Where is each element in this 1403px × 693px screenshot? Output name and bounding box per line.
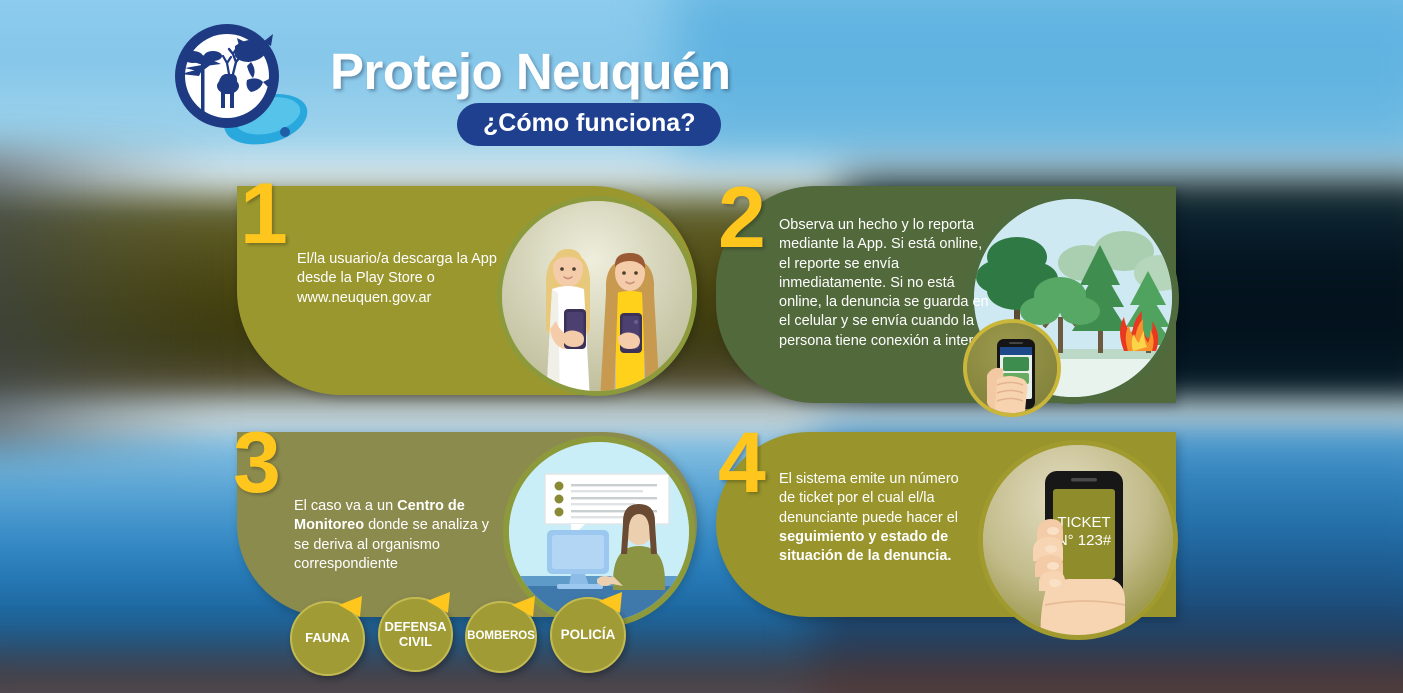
agency-label: BOMBEROS (461, 630, 541, 643)
step-3-text-pre: El caso va a un (294, 498, 397, 514)
step-2-number: 2 (718, 182, 766, 256)
agency-label-line1: DEFENSA (384, 619, 446, 634)
agency-label: DEFENSACIVIL (378, 620, 452, 650)
agency-circle-policia[interactable]: POLICÍA (550, 597, 626, 673)
step-1-number: 1 (240, 178, 288, 252)
two-people-with-phones-illustration (497, 196, 697, 396)
agency-arrow-icon (507, 593, 537, 623)
subtitle-pill: ¿Cómo funciona? (457, 103, 721, 146)
hand-holding-phone-ticket-illustration: TICKET N° 123# (978, 440, 1178, 640)
protejo-neuquen-emblem-icon (163, 16, 318, 148)
agency-arrow-icon (334, 593, 364, 623)
agency-arrow-icon (594, 589, 624, 619)
agency-circle-bomberos[interactable]: BOMBEROS (465, 601, 537, 673)
step-4-number: 4 (718, 427, 766, 501)
step-1-text: El/la usuario/a descarga la App desde la… (297, 250, 497, 308)
background-left-vignette (0, 150, 220, 450)
page-title: Protejo Neuquén (330, 42, 731, 101)
step-3-text: El caso va a un Centro de Monitoreo dond… (294, 497, 506, 574)
step-4-text-bold: seguimiento y estado de situación de la … (779, 529, 951, 564)
background-bottom-warm (0, 643, 1403, 693)
phone-ticket-line2: N° 123# (1057, 532, 1112, 549)
step-4-text-pre: El sistema emite un número de ticket por… (779, 471, 959, 526)
agency-circle-defensa-civil[interactable]: DEFENSACIVIL (378, 597, 453, 672)
agency-label: FAUNA (299, 631, 356, 646)
agency-circle-fauna[interactable]: FAUNA (290, 601, 365, 676)
step-4-text: El sistema emite un número de ticket por… (779, 470, 969, 566)
header: Protejo Neuquén ¿Cómo funciona? (0, 0, 1403, 160)
step-2-text: Observa un hecho y lo reporta mediante l… (779, 216, 994, 351)
hand-holding-phone-app-illustration (963, 319, 1061, 417)
agency-label-line2: CIVIL (399, 634, 432, 649)
agency-arrow-icon (422, 589, 452, 619)
phone-ticket-line1: TICKET (1057, 514, 1110, 531)
agency-label: POLICÍA (555, 627, 622, 643)
step-3-number: 3 (233, 427, 281, 501)
